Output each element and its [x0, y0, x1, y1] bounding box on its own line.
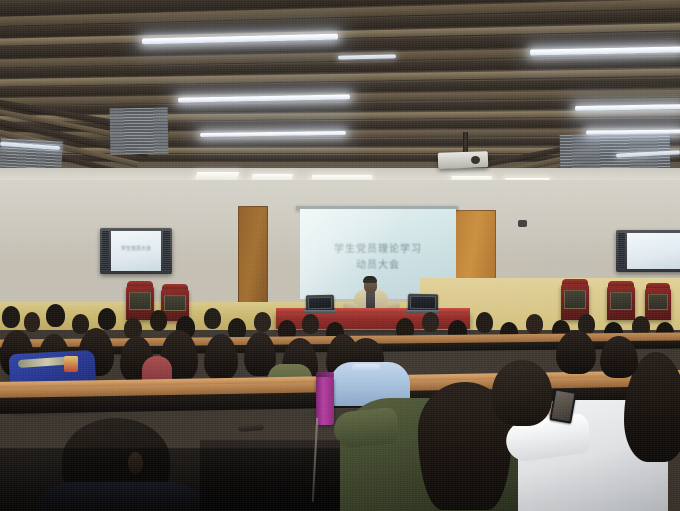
phone-screen: [552, 391, 575, 422]
left-monitor-screen: 学生党员大会: [111, 231, 161, 271]
olive-jacket-sleeve: [332, 407, 399, 449]
audience-head: [150, 310, 167, 331]
projection-line-1: 学生党员理论学习: [300, 240, 456, 255]
projection-line-2: 动员大会: [300, 256, 456, 271]
door-left[interactable]: [238, 206, 268, 310]
ceiling: [0, 0, 680, 196]
presenter-shirt: [366, 291, 375, 309]
laptop-right: [408, 294, 438, 312]
ornate-chair-5: [645, 288, 671, 320]
projector-lens-icon: [471, 156, 480, 164]
monitor-speaker-right-left: [618, 233, 625, 269]
white-jacket-person-head: [492, 360, 552, 426]
audience-head: [46, 304, 65, 327]
ornate-chair-1: [126, 286, 154, 320]
ornate-chair-4: [607, 286, 635, 320]
ceiling-projector: [438, 151, 489, 169]
monitor-speaker-right: [163, 231, 170, 271]
wall-sensor-device: [518, 220, 527, 227]
laptop-left: [306, 295, 334, 311]
audience-head: [476, 312, 493, 333]
backpack-logo-patch: [64, 356, 78, 372]
ceiling-vent-panel: [110, 107, 169, 154]
purple-thermos: [316, 377, 334, 425]
desk-object: [238, 423, 264, 432]
projector-mount-arm: [463, 132, 468, 154]
lecture-hall-photo: 学生党员理论学习 动员大会 学生党员大会: [0, 0, 680, 511]
audience-head: [526, 314, 543, 334]
monitor-speaker-left: [102, 231, 109, 271]
right-monitor-screen: [627, 233, 680, 269]
audience-head: [98, 308, 116, 330]
audience-head: [2, 306, 20, 328]
desk-leg-shadow: [200, 440, 340, 510]
shirt-collar: [352, 364, 380, 372]
audience-head: [204, 308, 221, 329]
laptop-left-base: [304, 310, 336, 313]
left-monitor-text: 学生党员大会: [111, 245, 161, 252]
right-wall-monitor: [616, 230, 680, 272]
audience-head: [302, 314, 319, 334]
audience-head: [254, 312, 271, 332]
presenter-hair: [363, 276, 377, 283]
left-wall-monitor: 学生党员大会: [100, 228, 172, 274]
audience-head: [24, 312, 40, 332]
audience-head: [422, 312, 439, 332]
